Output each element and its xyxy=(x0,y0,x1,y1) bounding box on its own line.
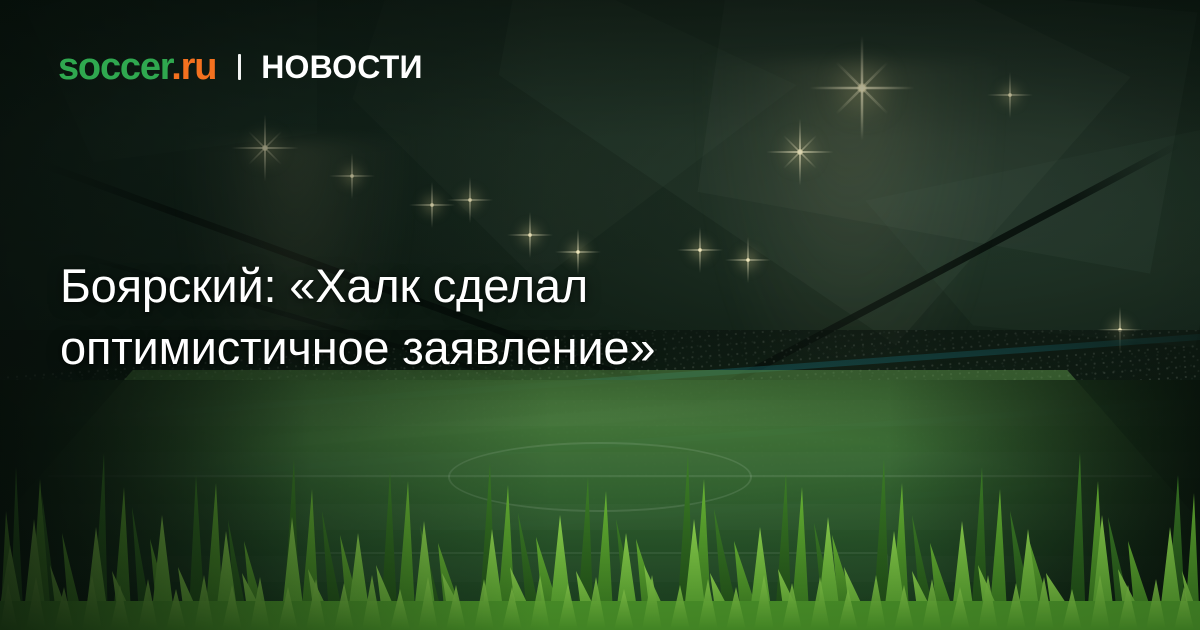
site-header: soccer.ru НОВОСТИ xyxy=(58,48,423,86)
site-logo[interactable]: soccer.ru xyxy=(58,48,216,86)
share-card: soccer.ru НОВОСТИ Боярский: «Халк сделал… xyxy=(0,0,1200,630)
logo-domain-text: .ru xyxy=(171,46,216,88)
section-label: НОВОСТИ xyxy=(261,51,422,83)
logo-name-text: soccer xyxy=(58,46,171,88)
headline-line-1: Боярский: «Халк сделал xyxy=(60,255,960,317)
headline-line-2: оптимистичное заявление» xyxy=(60,317,960,379)
header-divider xyxy=(238,54,241,80)
headline: Боярский: «Халк сделал оптимистичное зая… xyxy=(60,255,960,379)
foreground-grass xyxy=(0,415,1200,630)
